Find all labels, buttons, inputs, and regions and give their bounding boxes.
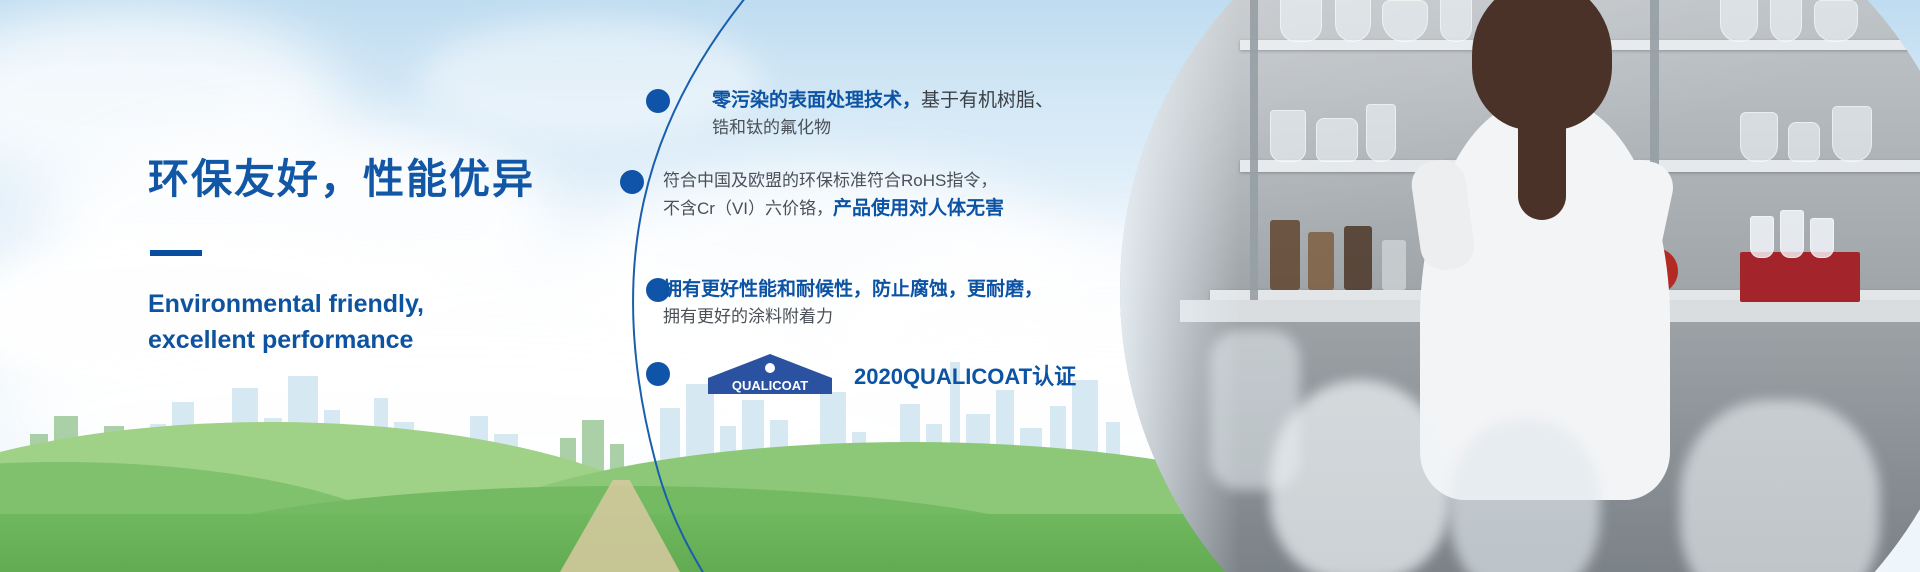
flask [1280, 0, 1322, 42]
page-title: 环保友好，性能优异 [148, 155, 618, 204]
bottle [1382, 240, 1406, 290]
qualicoat-logo-text: QUALICOAT [732, 378, 808, 393]
flask [1382, 0, 1428, 42]
bullet-3-line-1: 拥有更好性能和耐候性，防止腐蚀，更耐磨， [663, 275, 1043, 304]
technician-ponytail [1518, 90, 1566, 220]
subtitle-line-2: excellent performance [148, 322, 618, 358]
bullet-3-line2-rest: 拥有更好的涂料附着力 [663, 307, 833, 326]
title-divider [150, 250, 202, 256]
certification-label: 2020QUALICOAT认证 [854, 359, 1076, 391]
bottle [1344, 226, 1372, 290]
bullet-dot-2 [620, 170, 644, 194]
page-subtitle: Environmental friendly, excellent perfor… [148, 286, 618, 359]
foreground-glassware [1450, 420, 1600, 572]
bullet-2-line2-rest: 不含Cr（VI）六价铬， [663, 199, 833, 218]
flask [1750, 216, 1774, 258]
flask [1814, 0, 1858, 42]
flask [1780, 210, 1804, 258]
bullet-1-line-1: 零污染的表面处理技术，基于有机树脂、 [712, 86, 1054, 115]
bullet-3-strong: 拥有更好性能和耐候性，防止腐蚀，更耐磨， [663, 279, 1043, 300]
bullet-item-1: 零污染的表面处理技术，基于有机树脂、 锆和钛的氟化物 [712, 86, 1054, 142]
bullet-dot-1 [646, 89, 670, 113]
bullet-2-line-1: 符合中国及欧盟的环保标准符合RoHS指令， [663, 168, 1004, 194]
headline-block: 环保友好，性能优异 Environmental friendly, excell… [148, 155, 618, 359]
promo-banner: 环保友好，性能优异 Environmental friendly, excell… [0, 0, 1920, 572]
bullet-1-line2-rest: 锆和钛的氟化物 [712, 118, 831, 137]
cloud-shape [420, 20, 760, 140]
bullet-1-line-2: 锆和钛的氟化物 [712, 115, 1054, 141]
bottle [1308, 232, 1334, 290]
flask [1335, 0, 1371, 42]
certification-row: QUALICOAT 2020QUALICOAT认证 [700, 352, 1076, 398]
bullet-1-strong: 零污染的表面处理技术， [712, 90, 921, 111]
flask [1270, 110, 1306, 162]
bullet-dot-4 [646, 362, 670, 386]
foreground-glassware [1680, 400, 1880, 572]
subtitle-line-1: Environmental friendly, [148, 286, 618, 322]
flask [1788, 122, 1820, 162]
qualicoat-logo-icon: QUALICOAT [700, 352, 840, 398]
bullet-2-rest: 符合中国及欧盟的环保标准符合RoHS指令， [663, 171, 997, 190]
qualicoat-logo: QUALICOAT [700, 352, 840, 398]
shelf-post [1250, 0, 1258, 300]
bullet-2-line-2: 不含Cr（VI）六价铬，产品使用对人体无害 [663, 194, 1004, 223]
bullet-item-2: 符合中国及欧盟的环保标准符合RoHS指令， 不含Cr（VI）六价铬，产品使用对人… [663, 168, 1004, 224]
photo-edge-fade [1120, 0, 1240, 572]
flask [1440, 0, 1472, 42]
bullet-3-line-2: 拥有更好的涂料附着力 [663, 304, 1043, 330]
bullet-item-3: 拥有更好性能和耐候性，防止腐蚀，更耐磨， 拥有更好的涂料附着力 [663, 275, 1043, 331]
bullet-2-line2-strong: 产品使用对人体无害 [833, 198, 1004, 219]
flask [1832, 106, 1872, 162]
flask [1366, 104, 1396, 162]
bullet-1-rest: 基于有机树脂、 [921, 90, 1054, 111]
flask [1810, 218, 1834, 258]
lab-photo [1120, 0, 1920, 572]
flask [1740, 112, 1778, 162]
sample-rack [1740, 252, 1860, 302]
flask [1316, 118, 1358, 162]
bottle [1270, 220, 1300, 290]
flask [1770, 0, 1802, 42]
flask [1720, 0, 1758, 42]
